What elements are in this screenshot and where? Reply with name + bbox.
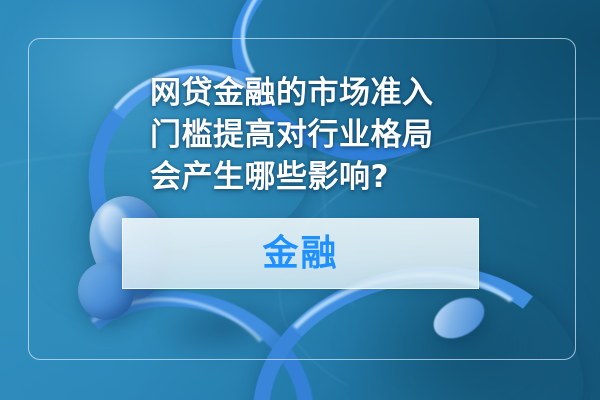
headphones-joint-icon [427, 289, 492, 346]
category-label: 金融 [262, 236, 338, 272]
headphones-neckband-left-icon [36, 278, 325, 400]
headline-line-1: 网贷金融的市场准入 [150, 72, 470, 114]
category-bar[interactable]: 金融 [122, 218, 479, 289]
light-arc-icon [288, 0, 600, 400]
headline: 网贷金融的市场准入 门槛提高对行业格局 会产生哪些影响? [150, 72, 470, 198]
headline-line-3: 会产生哪些影响? [150, 156, 470, 198]
headline-line-2: 门槛提高对行业格局 [150, 114, 470, 156]
headphones-neckband-left-highlight-icon [46, 286, 298, 400]
light-arc-icon [239, 0, 600, 400]
promo-card: 网贷金融的市场准入 门槛提高对行业格局 会产生哪些影响? 金融 [0, 0, 600, 400]
